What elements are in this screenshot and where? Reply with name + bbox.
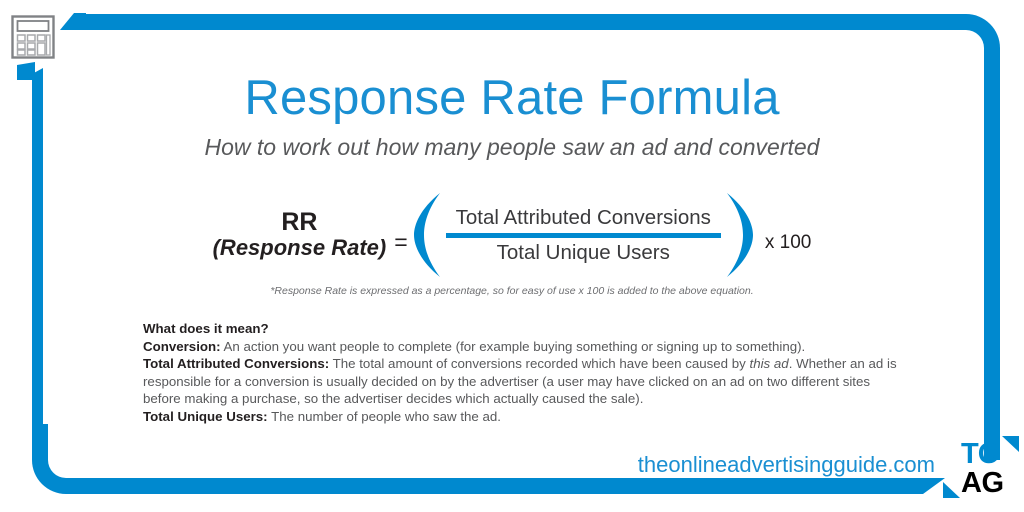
formula-label: RR (Response Rate) [213, 209, 387, 261]
term-tac-label: Total Attributed Conversions: [143, 356, 329, 371]
formula-label-abbrev: RR [213, 209, 387, 235]
page-title: Response Rate Formula [0, 70, 1024, 126]
frame-top-bar [62, 14, 952, 30]
term-tac-emphasis: this ad [750, 356, 789, 371]
term-tuu-definition: The number of people who saw the ad. [271, 409, 501, 424]
term-conversion-label: Conversion: [143, 339, 221, 354]
term-conversion-definition: An action you want people to complete (f… [224, 339, 806, 354]
term-total-attributed-conversions: Total Attributed Conversions: The total … [143, 355, 898, 408]
fraction: Total Attributed Conversions Total Uniqu… [446, 206, 721, 265]
accent-triangle-top-icon [60, 13, 86, 30]
explanation-heading: What does it mean? [143, 320, 898, 338]
close-paren-icon [723, 191, 757, 279]
frame-bottom-bar [95, 478, 945, 494]
term-conversion: Conversion: An action you want people to… [143, 338, 898, 356]
explanation-heading-text: What does it mean? [143, 321, 269, 336]
fraction-denominator: Total Unique Users [446, 238, 721, 265]
multiplier-label: x 100 [765, 232, 811, 254]
open-paren-icon [410, 191, 444, 279]
logo-text-ag: AG [957, 469, 1019, 498]
infographic-page: Response Rate Formula How to work out ho… [0, 0, 1024, 512]
formula-block: RR (Response Rate) = Total Attributed Co… [150, 190, 874, 280]
page-subtitle: How to work out how many people saw an a… [0, 134, 1024, 161]
formula-label-full: (Response Rate) [213, 235, 387, 260]
explanation-block: What does it mean? Conversion: An action… [143, 320, 898, 426]
calculator-icon [10, 14, 56, 60]
term-tuu-label: Total Unique Users: [143, 409, 268, 424]
term-tac-definition-part1: The total amount of conversions recorded… [333, 356, 750, 371]
fraction-numerator: Total Attributed Conversions [446, 206, 721, 233]
formula-footnote: *Response Rate is expressed as a percent… [0, 285, 1024, 297]
logo-text-to: TO [957, 440, 1019, 469]
frame-bottom-left-corner [32, 424, 102, 494]
frame-left-bar [32, 68, 43, 460]
term-total-unique-users: Total Unique Users: The number of people… [143, 408, 898, 426]
site-url-link[interactable]: theonlineadvertisingguide.com [560, 452, 935, 478]
toag-logo[interactable]: TO AG [957, 440, 1019, 502]
equals-sign: = [394, 229, 407, 256]
